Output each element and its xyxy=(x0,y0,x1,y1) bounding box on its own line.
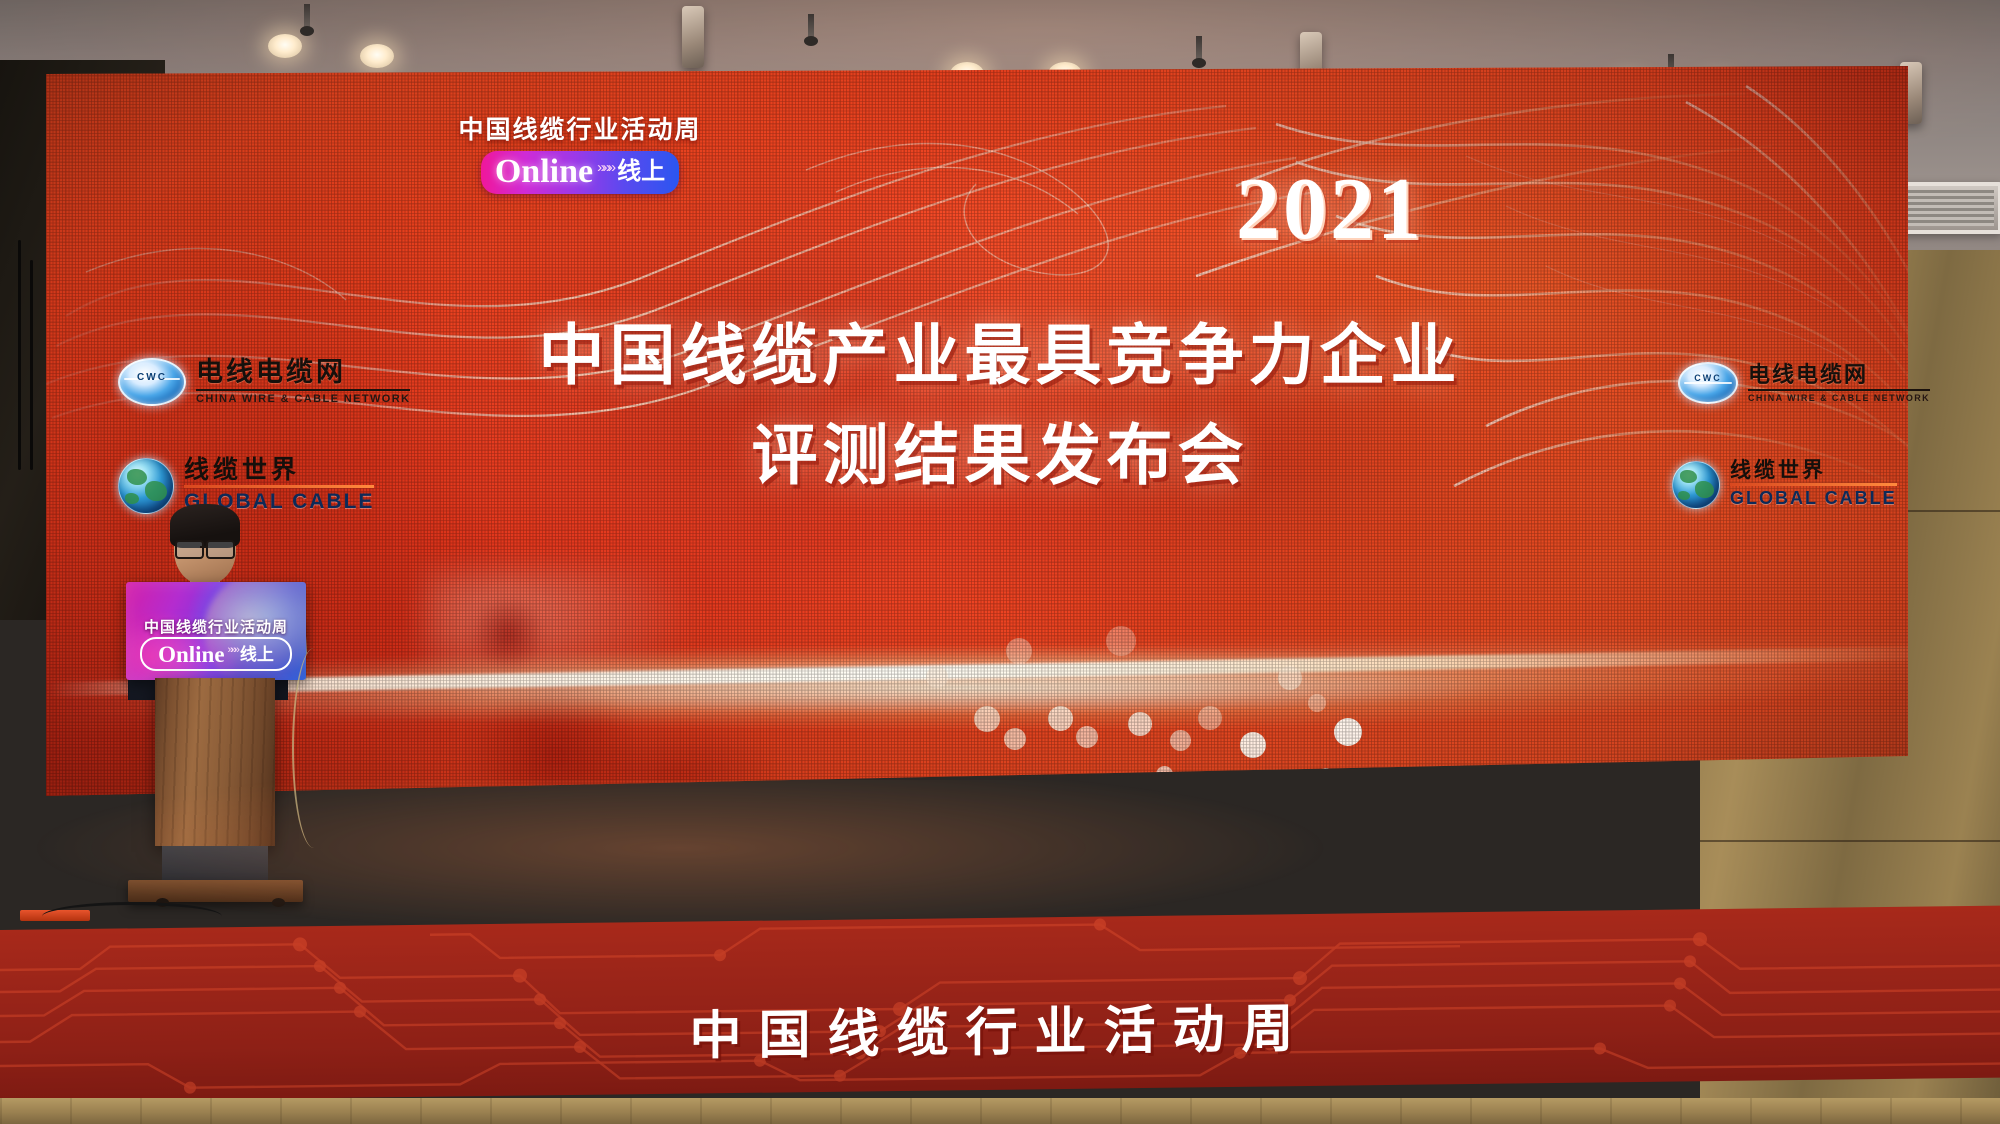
podium-sign-cn-title: 中国线缆行业活动周 xyxy=(126,616,306,637)
podium-sign: 中国线缆行业活动周 Online »»» 线上 xyxy=(126,582,306,680)
cwc-en-name: CHINA WIRE & CABLE NETWORK xyxy=(196,393,410,405)
downlight-icon xyxy=(360,44,394,68)
event-brand-cn-title: 中国线缆行业活动周 xyxy=(430,110,730,146)
globalcable-cn-name: 线缆世界 xyxy=(1730,460,1897,481)
ceiling-hook-icon xyxy=(304,4,310,30)
podium-online-badge-chevrons-icon: »»» xyxy=(228,644,237,656)
venue-floor-strip xyxy=(0,1098,2000,1124)
globe-oval-emblem-icon: CWC xyxy=(118,358,186,406)
globalcable-en-name: GLOBAL CABLE xyxy=(1730,488,1897,509)
divider xyxy=(184,485,374,488)
ceiling-hook-icon xyxy=(1196,36,1202,62)
eyeglasses-icon xyxy=(175,540,235,555)
cwc-text: 电线电缆网 CHINA WIRE & CABLE NETWORK xyxy=(1748,364,1930,403)
divider xyxy=(196,389,410,391)
globe-emblem-icon xyxy=(118,458,174,514)
logo-lockup-globalcable-left: 线缆世界 GLOBAL CABLE xyxy=(118,458,374,514)
cwc-text: 电线电缆网 CHINA WIRE & CABLE NETWORK xyxy=(196,359,410,405)
logo-lockup-cwc-left: CWC 电线电缆网 CHINA WIRE & CABLE NETWORK xyxy=(118,358,410,406)
cwc-en-name: CHINA WIRE & CABLE NETWORK xyxy=(1748,393,1930,403)
divider xyxy=(1748,389,1930,391)
online-badge: Online »»» 线上 xyxy=(481,151,679,194)
online-badge-en: Online xyxy=(495,155,593,189)
event-year: 2021 xyxy=(1236,166,1424,254)
online-badge-cn: 线上 xyxy=(617,160,665,184)
podium-online-badge-en: Online xyxy=(158,643,224,666)
event-brand-lockup: 中国线缆行业活动周 Online »»» 线上 xyxy=(430,110,730,194)
cwc-cn-name: 电线电缆网 xyxy=(1748,364,1930,386)
globe-emblem-icon xyxy=(1672,461,1720,509)
emblem-initials: CWC xyxy=(1680,373,1736,383)
logo-lockup-globalcable-right: 线缆世界 GLOBAL CABLE xyxy=(1672,460,1897,509)
stage-photograph: 中国线缆行业活动周 Online »»» 线上 2021 中国线缆产业最具竞争力… xyxy=(0,0,2000,1124)
globe-oval-emblem-icon: CWC xyxy=(1678,362,1738,404)
podium-online-badge: Online »»» 线上 xyxy=(140,637,292,671)
downlight-icon xyxy=(268,34,302,58)
divider xyxy=(1730,483,1897,486)
globalcable-text: 线缆世界 GLOBAL CABLE xyxy=(1730,460,1897,509)
podium-online-badge-cn: 线上 xyxy=(240,646,274,663)
emblem-initials: CWC xyxy=(120,372,184,383)
online-badge-chevrons-icon: »»» xyxy=(597,159,613,176)
cwc-cn-name: 电线电缆网 xyxy=(196,359,410,386)
ceiling-hook-icon xyxy=(808,14,814,40)
logo-lockup-cwc-right: CWC 电线电缆网 CHINA WIRE & CABLE NETWORK xyxy=(1678,362,1930,404)
globalcable-cn-name: 线缆世界 xyxy=(184,458,374,483)
ceiling-speaker-icon xyxy=(682,6,704,68)
